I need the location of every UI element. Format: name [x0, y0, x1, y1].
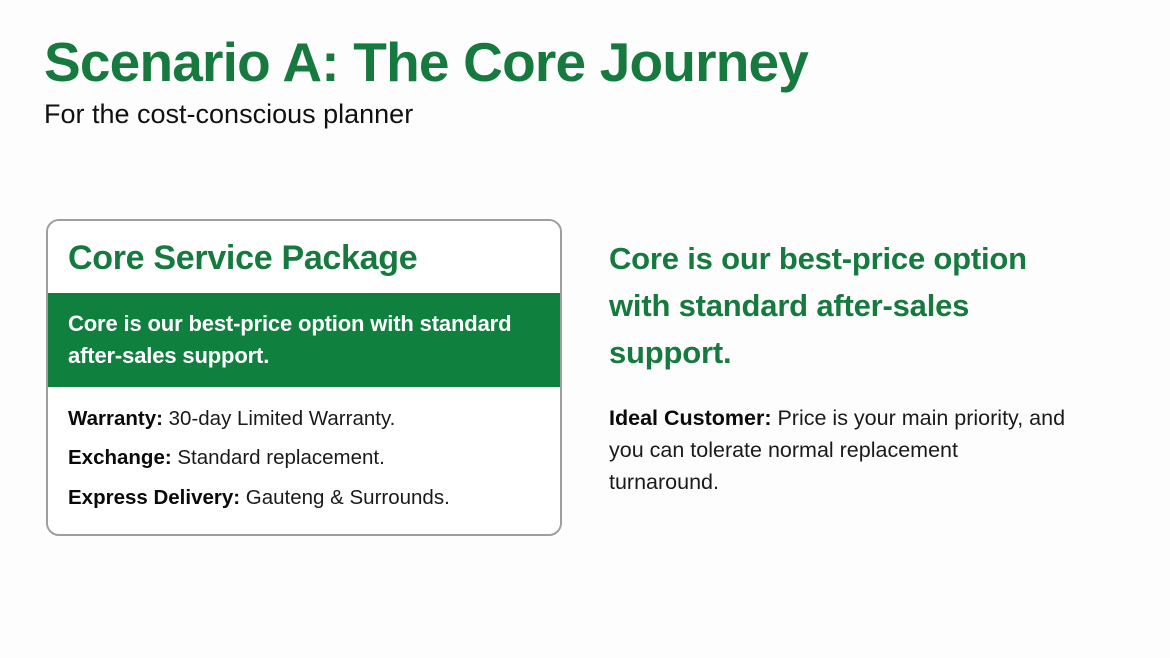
- detail-label: Warranty:: [68, 407, 163, 430]
- ideal-customer-label: Ideal Customer:: [609, 406, 771, 430]
- core-service-package-card: Core Service Package Core is our best-pr…: [46, 219, 562, 536]
- list-item: Exchange: Standard replacement.: [68, 448, 540, 469]
- detail-value: Standard replacement.: [177, 446, 384, 469]
- page-title: Scenario A: The Core Journey: [44, 34, 1124, 92]
- detail-value: 30-day Limited Warranty.: [169, 407, 396, 430]
- slide-header: Scenario A: The Core Journey For the cos…: [44, 34, 1124, 130]
- list-item: Warranty: 30-day Limited Warranty.: [68, 409, 540, 430]
- slide-canvas: Scenario A: The Core Journey For the cos…: [0, 0, 1170, 658]
- right-column: Core is our best-price option with stand…: [609, 235, 1079, 498]
- ideal-customer-paragraph: Ideal Customer: Price is your main prior…: [609, 402, 1071, 498]
- card-title: Core Service Package: [68, 240, 560, 277]
- detail-label: Express Delivery:: [68, 486, 240, 509]
- list-item: Express Delivery: Gauteng & Surrounds.: [68, 488, 540, 509]
- card-banner-text: Core is our best-price option with stand…: [68, 308, 520, 370]
- card-detail-list: Warranty: 30-day Limited Warranty. Excha…: [48, 387, 560, 535]
- page-subtitle: For the cost-conscious planner: [44, 98, 1124, 130]
- card-highlight-banner: Core is our best-price option with stand…: [48, 293, 560, 386]
- right-column-heading: Core is our best-price option with stand…: [609, 235, 1039, 376]
- detail-value: Gauteng & Surrounds.: [246, 486, 450, 509]
- detail-label: Exchange:: [68, 446, 172, 469]
- card-header: Core Service Package: [48, 221, 560, 293]
